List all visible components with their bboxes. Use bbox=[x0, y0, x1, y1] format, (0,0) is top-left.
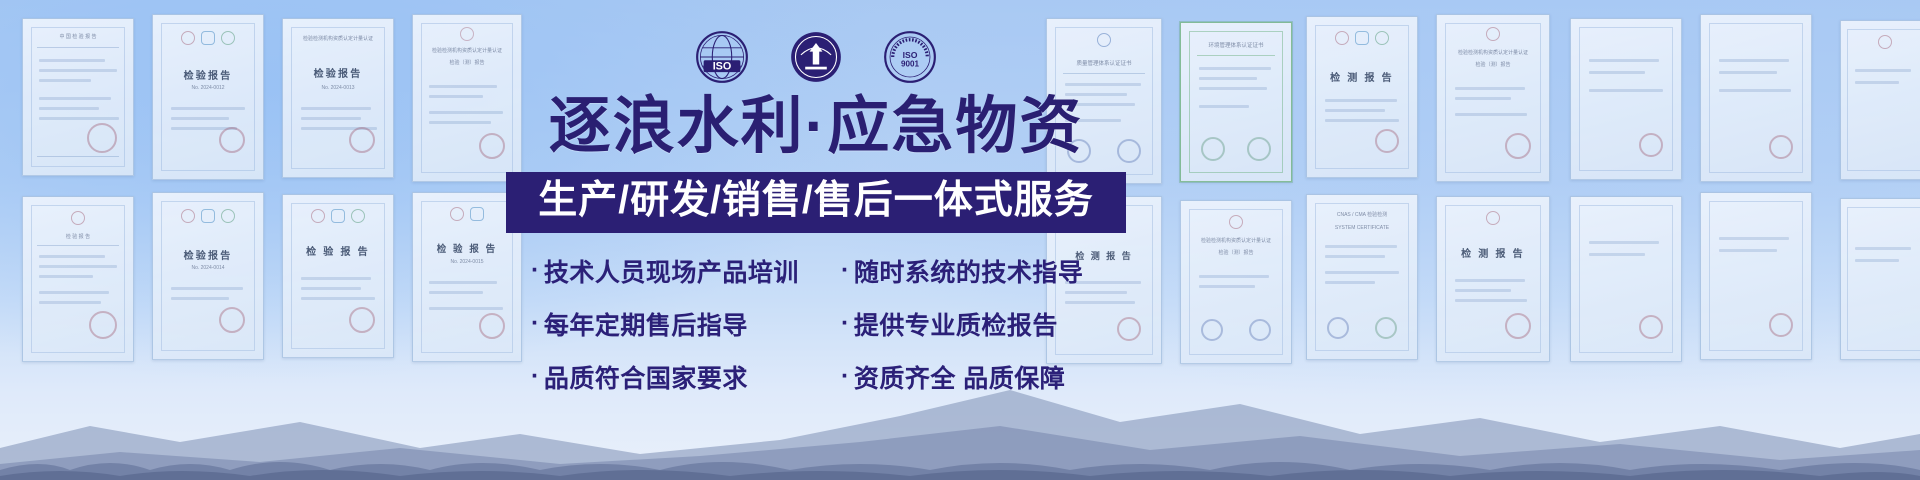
certificate-card bbox=[1840, 198, 1920, 360]
certificate-card: 检验报告 No. 2024-0012 bbox=[152, 14, 264, 180]
certificate-card: 检验报告 No. 2024-0014 bbox=[152, 192, 264, 360]
certificate-card bbox=[1570, 18, 1682, 180]
certificate-card bbox=[1570, 196, 1682, 362]
list-item: ·每年定期售后指导 bbox=[531, 306, 831, 342]
certificate-card bbox=[1700, 14, 1812, 182]
bullet-icon: · bbox=[531, 309, 540, 338]
feature-text: 技术人员现场产品培训 bbox=[544, 253, 799, 289]
feature-text: 品质符合国家要求 bbox=[544, 359, 748, 395]
certification-badges: ISO ISO 9001 bbox=[506, 28, 1126, 86]
bullet-icon: · bbox=[841, 309, 850, 338]
svg-text:ISO: ISO bbox=[903, 50, 918, 60]
certificate-card: 检 测 报 告 bbox=[1436, 196, 1550, 362]
banner-content: ISO ISO 9001 逐浪水利·应急物资 生产/研发/销售/售后一体式服务 bbox=[506, 28, 1126, 395]
bullet-icon: · bbox=[841, 256, 850, 285]
list-item: ·技术人员现场产品培训 bbox=[531, 253, 831, 289]
svg-text:ISO: ISO bbox=[713, 60, 732, 72]
list-item: ·提供专业质检报告 bbox=[841, 306, 1101, 342]
bullet-icon: · bbox=[841, 362, 850, 391]
certificate-card: 检验检测机构资质认定计量认证 检验报告 No. 2024-0013 bbox=[282, 18, 394, 178]
feature-text: 资质齐全 品质保障 bbox=[854, 359, 1065, 395]
iso-badge: ISO bbox=[695, 30, 749, 84]
certificate-card: 检验检测机构资质认定计量认证 检验（测）报告 bbox=[1436, 14, 1550, 182]
certificate-card bbox=[1700, 192, 1812, 360]
bullet-icon: · bbox=[531, 256, 540, 285]
feature-list: ·技术人员现场产品培训 ·随时系统的技术指导 ·每年定期售后指导 ·提供专业质检… bbox=[506, 253, 1126, 395]
certificate-card: 环境管理体系认证证书 bbox=[1180, 22, 1292, 182]
feature-text: 每年定期售后指导 bbox=[544, 306, 748, 342]
certificate-card: 检 验 报 告 bbox=[282, 194, 394, 358]
feature-text: 提供专业质检报告 bbox=[854, 306, 1058, 342]
certificate-card: 中 国 检 验 报 告 bbox=[22, 18, 134, 176]
promo-banner: 中 国 检 验 报 告 检验报告 No. 2024-0012 检验检测机构资质认… bbox=[0, 0, 1920, 480]
certificate-card: 检 验 报 告 bbox=[22, 196, 134, 362]
certificate-card: CNAS / CMA 检验检测 SYSTEM CERTIFICATE bbox=[1306, 194, 1418, 360]
certificate-card: 检 测 报 告 bbox=[1306, 16, 1418, 178]
iso9001-badge: ISO 9001 bbox=[883, 30, 937, 84]
list-item: ·品质符合国家要求 bbox=[531, 359, 831, 395]
bullet-icon: · bbox=[531, 362, 540, 391]
feature-text: 随时系统的技术指导 bbox=[854, 253, 1084, 289]
certificate-card: 检验检测机构资质认定计量认证 检验（测）报告 bbox=[1180, 200, 1292, 364]
list-item: ·随时系统的技术指导 bbox=[841, 253, 1101, 289]
quality-badge bbox=[789, 30, 843, 84]
list-item: ·资质齐全 品质保障 bbox=[841, 359, 1101, 395]
svg-text:9001: 9001 bbox=[901, 60, 920, 69]
certificate-card bbox=[1840, 20, 1920, 180]
page-title: 逐浪水利·应急物资 bbox=[506, 96, 1126, 158]
service-subtitle-bar: 生产/研发/销售/售后一体式服务 bbox=[506, 172, 1126, 233]
